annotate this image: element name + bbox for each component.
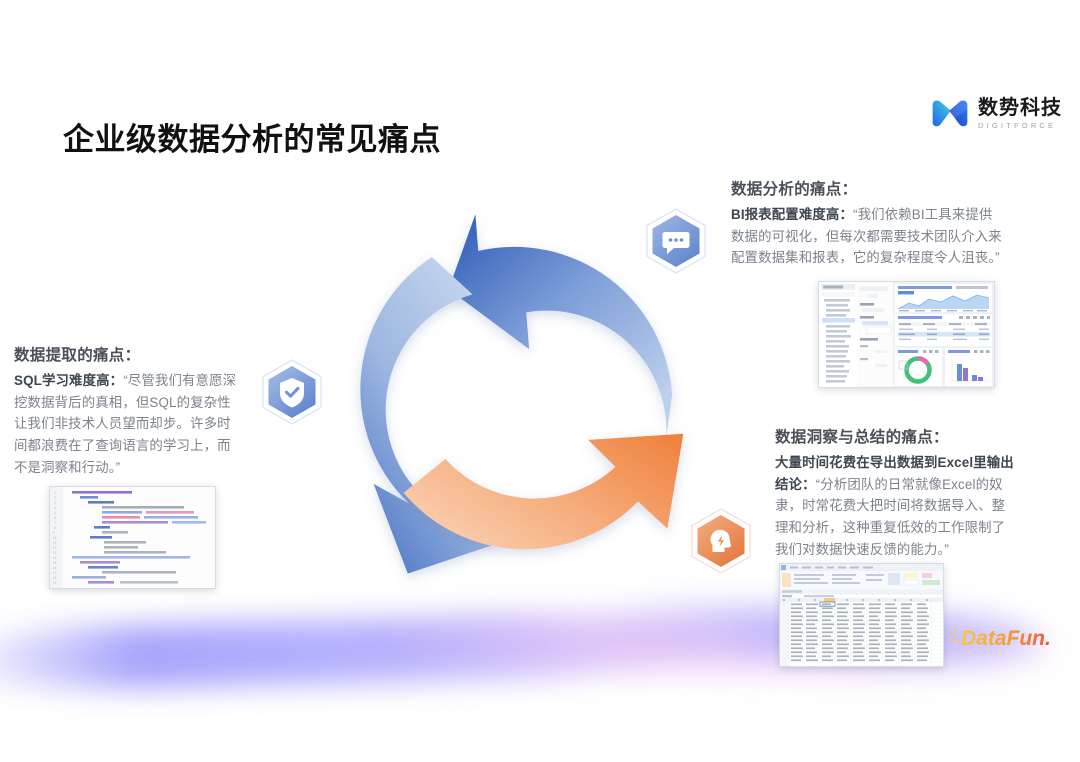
pain-point-heading: 数据洞察与总结的痛点：	[775, 425, 1018, 447]
pain-point-heading: 数据提取的痛点：	[14, 343, 242, 365]
shield-check-icon	[259, 359, 325, 425]
pain-point-insight: 数据洞察与总结的痛点： 大量时间花费在导出数据到Excel里输出结论：“分析团队…	[775, 425, 1018, 561]
pain-point-analysis: 数据分析的痛点： BI报表配置难度高：“我们依赖BI工具来提供数据的可视化，但每…	[731, 177, 1003, 269]
pain-point-body: BI报表配置难度高：“我们依赖BI工具来提供数据的可视化，但每次都需要技术团队介…	[731, 204, 1003, 269]
brand-name-cn: 数势科技	[978, 98, 1062, 119]
svg-text:14: 14	[53, 556, 57, 560]
svg-text:3: 3	[54, 501, 56, 505]
svg-text:DataFun.: DataFun.	[961, 627, 1049, 650]
wave-band-purple	[0, 611, 701, 694]
svg-text:5: 5	[54, 511, 56, 515]
sql-code-graphic: 1234 5678 9101112 13141516 171819	[50, 487, 215, 588]
svg-text:6: 6	[54, 516, 56, 520]
pain-point-extraction: 数据提取的痛点： SQL学习难度高：“尽管我们有意愿深挖数据背后的真相，但SQL…	[14, 343, 242, 479]
svg-text:18: 18	[53, 576, 57, 580]
datafun-logo-icon: DataFun.	[949, 622, 1049, 652]
svg-text:12: 12	[53, 546, 57, 550]
digitforce-mark-icon	[931, 99, 969, 129]
bi-dashboard-screenshot	[818, 281, 995, 388]
datafun-watermark: DataFun.	[949, 622, 1049, 652]
svg-text:15: 15	[53, 561, 57, 565]
pain-point-heading: 数据分析的痛点：	[731, 177, 1003, 199]
pain-point-body: 大量时间花费在导出数据到Excel里输出结论：“分析团队的日常就像Excel的奴…	[775, 452, 1018, 561]
svg-text:19: 19	[53, 581, 57, 585]
svg-text:7: 7	[54, 521, 56, 525]
slide-root: 企业级数据分析的常见痛点 数势科技 DIGITFORCE	[0, 0, 1080, 762]
sql-editor-screenshot: 1234 5678 9101112 13141516 171819	[49, 486, 216, 589]
shield-badge	[259, 359, 325, 425]
svg-text:9: 9	[53, 531, 55, 535]
svg-text:11: 11	[53, 541, 57, 545]
svg-text:4: 4	[54, 506, 56, 510]
svg-text:16: 16	[53, 566, 57, 570]
idea-badge	[688, 508, 754, 574]
svg-text:13: 13	[53, 551, 57, 555]
pain-point-lead: BI报表配置难度高：	[731, 207, 853, 222]
brand-name-en: DIGITFORCE	[978, 121, 1062, 131]
page-title: 企业级数据分析的常见痛点	[63, 114, 441, 159]
pain-point-lead: SQL学习难度高：	[14, 373, 123, 388]
chat-bubble-icon	[643, 208, 709, 274]
svg-text:2: 2	[54, 496, 56, 500]
head-lightning-icon	[688, 508, 754, 574]
pain-point-body: SQL学习难度高：“尽管我们有意愿深挖数据背后的真相，但SQL的复杂性让我们非技…	[14, 370, 242, 479]
brand-logo: 数势科技 DIGITFORCE	[931, 98, 1062, 131]
excel-grid-graphic	[780, 564, 943, 666]
svg-text:17: 17	[53, 571, 57, 575]
svg-text:8: 8	[54, 526, 56, 530]
svg-text:10: 10	[53, 536, 57, 540]
chat-badge	[643, 208, 709, 274]
pain-point-quote: “尽管我们有意愿深挖数据背后的真相，但SQL的复杂性让我们非技术人员望而却步。许…	[14, 373, 236, 475]
excel-sheet-screenshot	[779, 563, 944, 667]
bi-dashboard-graphic	[819, 282, 994, 387]
svg-text:1: 1	[54, 491, 56, 495]
